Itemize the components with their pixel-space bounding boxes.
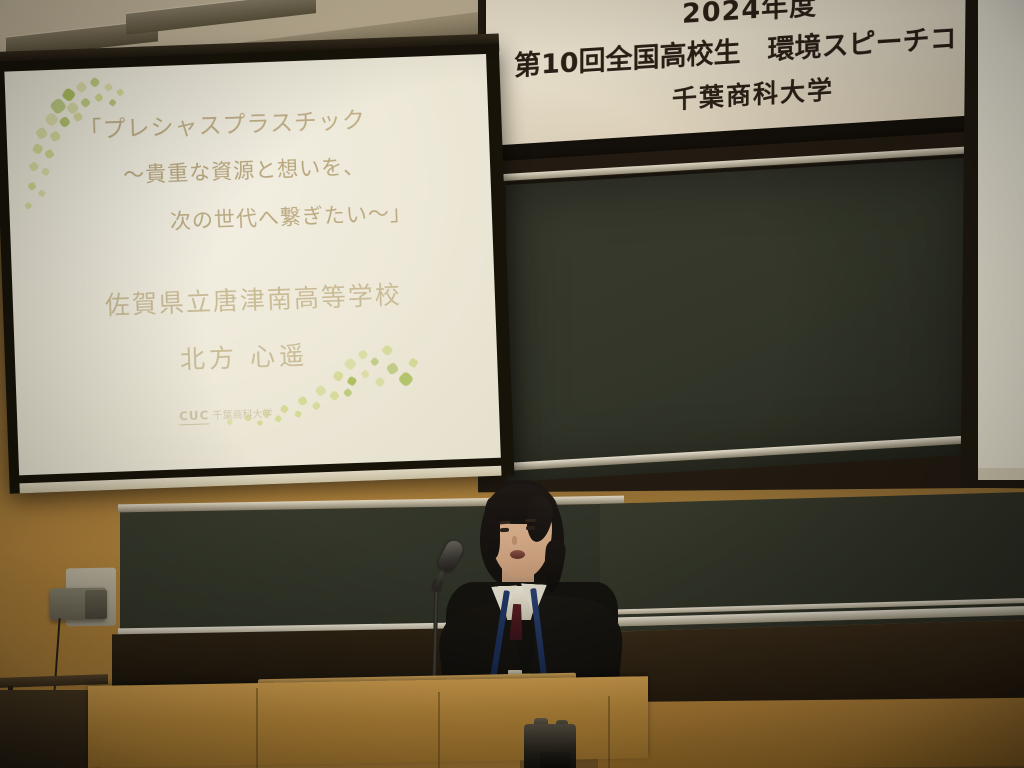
chalkboard-main [506, 154, 976, 482]
slide-presenter-name: 北方 心遥 [179, 336, 308, 377]
speaker-side-panel [85, 590, 107, 619]
presentation-slide: 「プレシャスプラスチック ～貴重な資源と想いを、 次の世代へ繋ぎたい～」 佐賀県… [4, 54, 500, 475]
tripod-post [540, 752, 570, 768]
lecture-hall-photo: 2024年度 第10回全国高校生 環境スピーチコ 千葉商科大学 「プレシャスプラ… [0, 0, 1024, 768]
second-projection-screen [978, 0, 1024, 476]
slide-title-line-1: 「プレシャスプラスチック [78, 100, 367, 145]
banner-host-text: 千葉商科大学 [672, 70, 834, 116]
projection-screen: 「プレシャスプラスチック ～貴重な資源と想いを、 次の世代へ繋ぎたい～」 佐賀県… [0, 43, 514, 493]
podium-panel-seam [608, 696, 610, 768]
cuc-logo-text: 千葉商科大学 [212, 409, 272, 422]
mouth [510, 550, 525, 559]
podium-panel-seam [256, 688, 258, 768]
stacked-chair [0, 690, 96, 768]
slide-text-block: 「プレシャスプラスチック ～貴重な資源と想いを、 次の世代へ繋ぎたい～」 佐賀県… [4, 54, 500, 475]
second-screen-bottom-edge [978, 468, 1024, 480]
podium-panel-seam [438, 692, 440, 768]
slide-school-name: 佐賀県立唐津南高等学校 [104, 275, 402, 322]
slide-title-line-2: ～貴重な資源と想いを、 [123, 150, 366, 189]
eye-left [500, 528, 509, 532]
cuc-logo-mark: CUC [179, 408, 210, 425]
cuc-logo: CUC千葉商科大学 [179, 405, 273, 423]
eye-right [526, 526, 535, 530]
right-desk [598, 698, 1024, 768]
slide-title-line-3: 次の世代へ繋ぎたい～」 [169, 197, 412, 236]
nose [512, 536, 517, 545]
